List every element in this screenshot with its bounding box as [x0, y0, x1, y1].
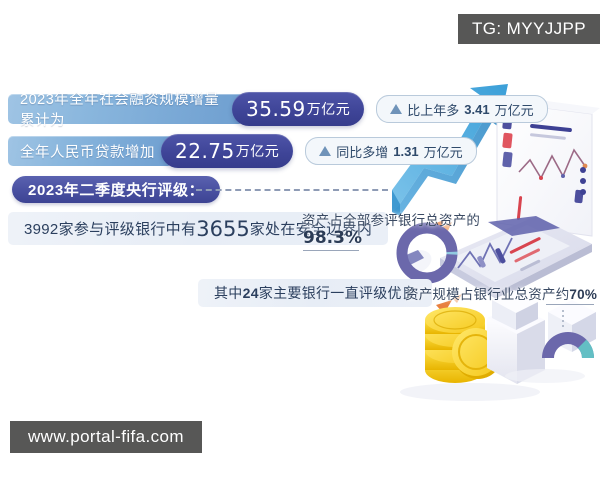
fact-suffix: 家主要银行一直评级优良 — [259, 283, 416, 303]
rating-section-heading: 2023年二季度央行评级： — [12, 176, 220, 203]
triangle-up-icon — [390, 104, 402, 114]
stat-value-social-financing: 35.59 万亿元 — [232, 92, 364, 126]
stat-row-rmb-loans: 全年人民币贷款增加 22.75 万亿元 同比多增 1.31 万亿元 — [8, 134, 477, 168]
callout-value: 70% — [569, 287, 597, 302]
stat-label-rmb-loans: 全年人民币贷款增加 — [8, 136, 173, 166]
stat-value-number: 22.75 — [175, 139, 235, 163]
rating-fact-major-banks: 其中24家主要银行一直评级优良 — [198, 279, 432, 307]
triangle-up-icon — [319, 146, 331, 156]
stat-value-unit: 万亿元 — [307, 99, 351, 119]
stat-row-social-financing: 2023年全年社会融资规模增量累计为 35.59 万亿元 比上年多 3.41 万… — [8, 92, 548, 126]
stat-value-number: 35.59 — [246, 97, 306, 121]
fact-highlight-number: 3655 — [196, 217, 249, 241]
delta-prefix: 比上年多 — [407, 100, 459, 119]
fact-prefix: 3992家参与评级银行中有 — [24, 218, 196, 239]
delta-unit: 万亿元 — [495, 100, 534, 119]
fact-prefix: 其中 — [214, 283, 243, 303]
callout-asset-share-label: 资产占全部参评银行总资产的 — [302, 209, 480, 229]
delta-value: 3.41 — [464, 102, 489, 117]
gauge-chart-70 — [542, 332, 594, 358]
stat-delta-social-financing: 比上年多 3.41 万亿元 — [376, 95, 547, 123]
stat-value-unit: 万亿元 — [236, 141, 280, 161]
fact-highlight-number: 24 — [243, 285, 259, 301]
callout-asset-share-value: 98.3% — [303, 228, 362, 248]
watermark-bottom-left: www.portal-fifa.com — [10, 421, 202, 453]
stat-value-rmb-loans: 22.75 万亿元 — [161, 134, 293, 168]
donut-chart-98 — [402, 228, 452, 278]
gold-coins-graphic — [425, 307, 502, 383]
callout-underline — [546, 304, 594, 305]
delta-prefix: 同比多增 — [336, 142, 388, 161]
infographic-canvas: 2023年全年社会融资规模增量累计为 35.59 万亿元 比上年多 3.41 万… — [0, 0, 600, 480]
callout-industry-share: 资产规模占银行业总资产约70% — [405, 283, 597, 303]
stat-delta-rmb-loans: 同比多增 1.31 万亿元 — [305, 137, 476, 165]
callout-prefix: 资产规模占银行业总资产约 — [405, 287, 569, 302]
delta-unit: 万亿元 — [424, 142, 463, 161]
mouse-graphic — [397, 246, 435, 278]
stat-label-social-financing: 2023年全年社会融资规模增量累计为 — [8, 94, 244, 124]
delta-value: 1.31 — [393, 144, 418, 159]
callout-underline — [303, 250, 359, 251]
dashed-connector-line — [196, 189, 388, 191]
watermark-top-right: TG: MYYJJPP — [458, 14, 600, 44]
